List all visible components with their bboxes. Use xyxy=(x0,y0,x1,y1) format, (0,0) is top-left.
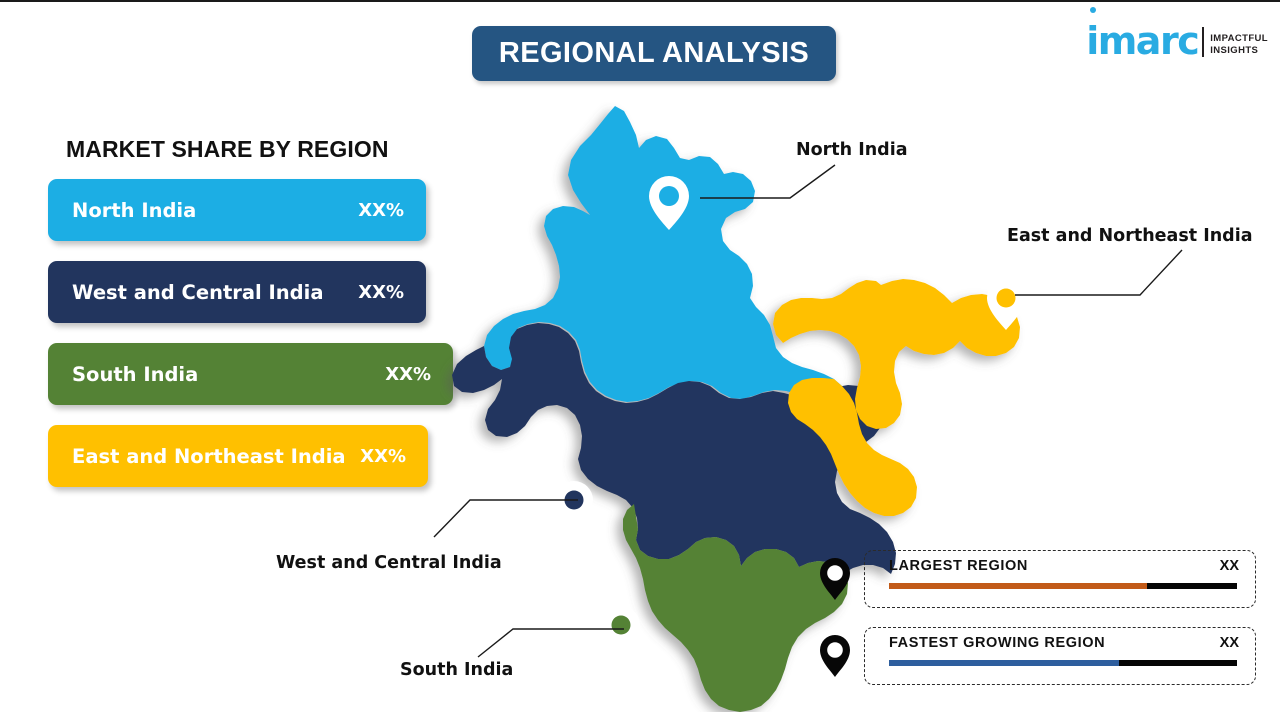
callout-label-west-and-central-india: West and Central India xyxy=(276,553,502,573)
logo-tagline-line2: INSIGHTS xyxy=(1210,45,1268,57)
callout-label-north-india: North India xyxy=(796,140,908,160)
map-pin-west-and-central-india-icon xyxy=(555,481,593,532)
logo-divider xyxy=(1202,27,1204,57)
map-pin-south-india-icon xyxy=(602,606,640,657)
legend-item-north-india[interactable]: North India XX% xyxy=(48,179,426,241)
map-pin-icon xyxy=(818,557,852,601)
stat-progress-fill xyxy=(889,660,1119,666)
stat-largest-region: LARGEST REGION XX xyxy=(818,550,1256,608)
stat-progress-fill xyxy=(889,583,1147,589)
page-title-banner: REGIONAL ANALYSIS xyxy=(472,26,836,81)
stat-fastest-growing-region: FASTEST GROWING REGION XX xyxy=(818,627,1256,685)
stat-box: FASTEST GROWING REGION XX xyxy=(864,627,1256,685)
legend-item-value: XX% xyxy=(358,282,404,303)
logo-tagline-line1: IMPACTFUL xyxy=(1210,33,1268,45)
legend-item-label: North India xyxy=(72,199,196,222)
india-region-map xyxy=(440,102,1080,712)
legend-item-label: West and Central India xyxy=(72,281,323,304)
stat-header: LARGEST REGION XX xyxy=(889,558,1239,574)
legend-item-east-and-northeast-india[interactable]: East and Northeast India XX% xyxy=(48,425,428,487)
legend-item-label: South India xyxy=(72,363,198,386)
stat-box: LARGEST REGION XX xyxy=(864,550,1256,608)
legend-title: MARKET SHARE BY REGION xyxy=(66,136,448,163)
logo-wordmark: imarc xyxy=(1086,22,1198,60)
slide-canvas: REGIONAL ANALYSIS imarc IMPACTFUL INSIGH… xyxy=(0,0,1280,720)
legend-item-value: XX% xyxy=(385,364,431,385)
legend-panel: MARKET SHARE BY REGION North India XX% W… xyxy=(48,136,448,507)
legend-item-label: East and Northeast India xyxy=(72,445,346,468)
stat-value: XX xyxy=(1220,558,1239,574)
logo-dot-icon xyxy=(1090,7,1096,13)
stat-progress-track xyxy=(889,583,1237,589)
callout-label-east-and-northeast-india: East and Northeast India xyxy=(1007,226,1253,246)
legend-item-south-india[interactable]: South India XX% xyxy=(48,343,453,405)
legend-item-value: XX% xyxy=(360,446,406,467)
legend-item-value: XX% xyxy=(358,200,404,221)
callout-label-south-india: South India xyxy=(400,660,513,680)
logo-tagline: IMPACTFUL INSIGHTS xyxy=(1210,33,1268,60)
map-pin-icon xyxy=(818,634,852,678)
stat-value: XX xyxy=(1220,635,1239,651)
stat-progress-track xyxy=(889,660,1237,666)
stat-label: LARGEST REGION xyxy=(889,558,1028,574)
page-title: REGIONAL ANALYSIS xyxy=(499,37,809,70)
imarc-logo: imarc IMPACTFUL INSIGHTS xyxy=(1086,16,1268,60)
legend-item-west-and-central-india[interactable]: West and Central India XX% xyxy=(48,261,426,323)
stat-header: FASTEST GROWING REGION XX xyxy=(889,635,1239,651)
stat-label: FASTEST GROWING REGION xyxy=(889,635,1105,651)
